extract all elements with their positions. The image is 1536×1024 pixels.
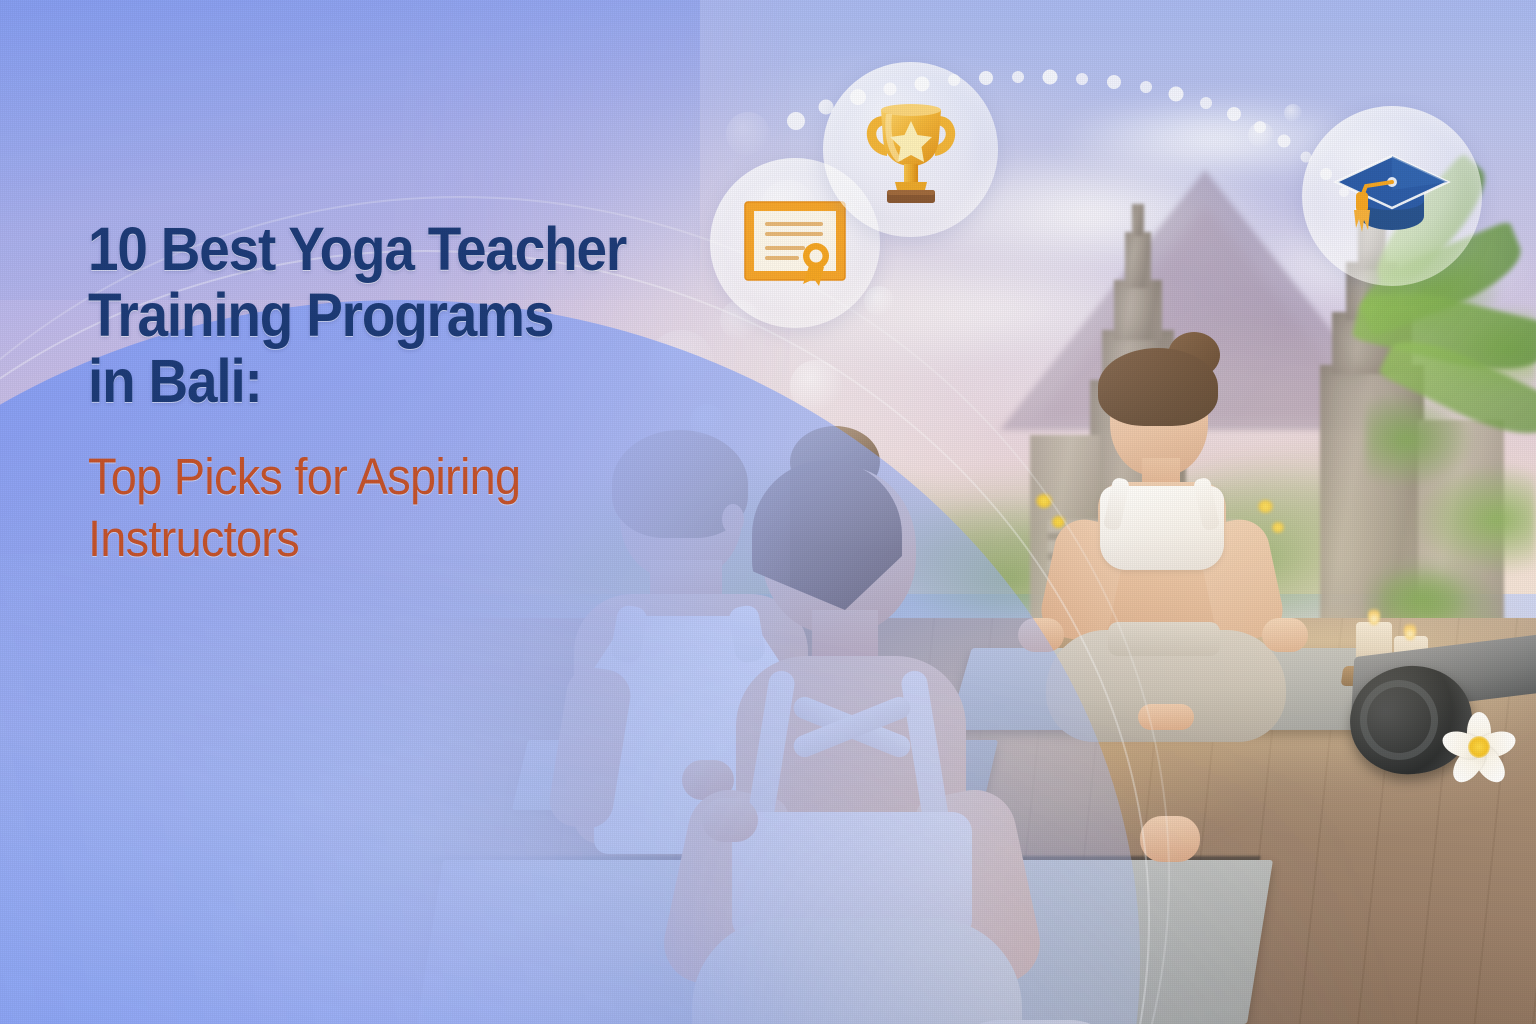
trophy-icon <box>855 94 967 206</box>
flower-center <box>1468 736 1490 758</box>
page-subtitle: Top Picks for Aspiring Instructors <box>88 446 677 570</box>
page-title: 10 Best Yoga Teacher Training Programs i… <box>88 216 664 414</box>
graduation-cap-icon <box>1332 148 1452 244</box>
headline-block: 10 Best Yoga Teacher Training Programs i… <box>88 216 728 570</box>
frangipani-flower <box>1440 708 1516 784</box>
badge-graduation-cap[interactable] <box>1302 106 1482 286</box>
candle-flame <box>1368 605 1380 625</box>
spa-props-group <box>1330 600 1536 800</box>
right-hand-mudra <box>1262 618 1308 652</box>
right-hand-mudra <box>1140 816 1200 862</box>
badge-trophy[interactable] <box>823 62 998 237</box>
certificate-icon <box>743 200 847 286</box>
hair <box>1098 348 1218 426</box>
hero-banner: 10 Best Yoga Teacher Training Programs i… <box>0 0 1536 1024</box>
candle-flame <box>1404 620 1416 640</box>
